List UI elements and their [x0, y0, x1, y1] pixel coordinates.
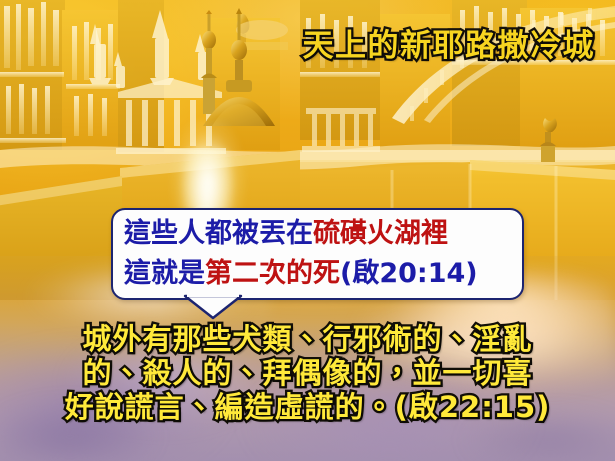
verse-line-2: 的、殺人的、拜偶像的，並一切喜: [0, 356, 615, 390]
slide-title: 天上的新耶路撒冷城: [0, 31, 595, 62]
scripture-callout: 這些人都被丟在硫磺火湖裡 這就是第二次的死(啟20:14): [111, 208, 524, 300]
callout-line-2: 這就是第二次的死(啟20:14): [124, 254, 524, 294]
callout-line-1: 這些人都被丟在硫磺火湖裡: [124, 214, 524, 254]
verse-block: 城外有那些犬類、行邪術的、淫亂 的、殺人的、拜偶像的，並一切喜 好說謊言、編造虛…: [0, 322, 615, 424]
callout-text-block: 這些人都被丟在硫磺火湖裡 這就是第二次的死(啟20:14): [111, 208, 524, 300]
callout-line2-reference: (啟20:14): [340, 258, 478, 289]
slide-canvas: 天上的新耶路撒冷城 這些人都被丟在硫磺火湖裡 這就是第二次的死(啟20:14) …: [0, 0, 615, 461]
callout-line2-red: 第二次的死: [205, 258, 340, 289]
callout-line1-blue: 這些人都被丟在: [124, 218, 313, 249]
verse-line-3: 好說謊言、編造虛謊的。(啟22:15): [0, 390, 615, 424]
callout-line2-blue: 這就是: [124, 258, 205, 289]
callout-line1-red: 硫磺火湖裡: [313, 218, 448, 249]
verse-line-1: 城外有那些犬類、行邪術的、淫亂: [0, 322, 615, 356]
